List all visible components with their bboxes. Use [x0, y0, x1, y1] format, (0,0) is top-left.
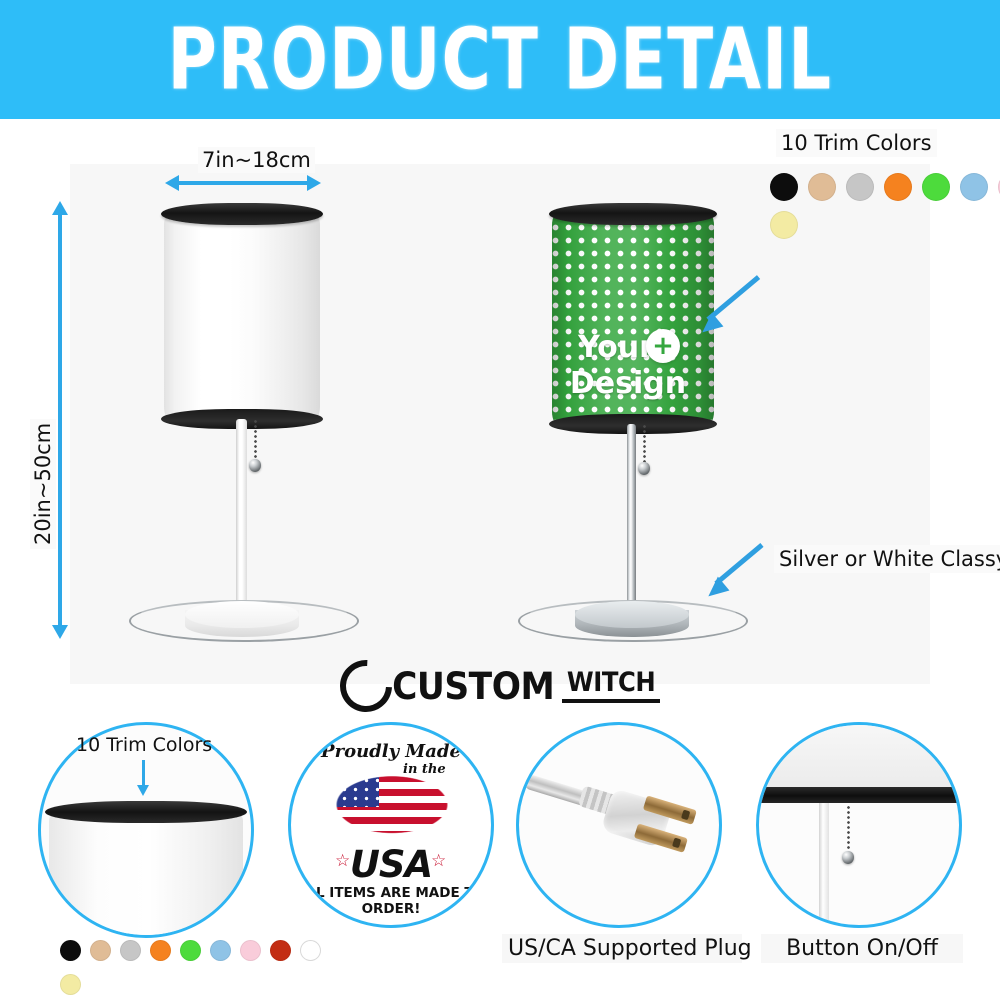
- lamp-shade-green: Your + Design: [552, 211, 714, 426]
- usa-star-right-icon: ☆: [431, 851, 446, 871]
- product-detail-page: PRODUCT DETAIL 7in~18cm 20in~50cm: [0, 0, 1000, 1000]
- pull-chain-ball: [638, 462, 650, 475]
- shade-surface: [164, 211, 320, 421]
- trim-swatch-light-blue[interactable]: [960, 173, 988, 201]
- trim-swatch-black[interactable]: [60, 940, 81, 961]
- trim-swatch-pink[interactable]: [240, 940, 261, 961]
- feature-circle-switch: [756, 722, 962, 928]
- height-measurement-arrow: [58, 214, 62, 626]
- feature-caption-plug: US/CA Supported Plug: [502, 934, 742, 963]
- brand-name-secondary-wrap: WITCH: [562, 667, 660, 703]
- feature-circle-plug: [516, 722, 722, 928]
- brand-name-secondary: WITCH: [567, 667, 655, 698]
- usa-badge-line-big: USA: [291, 843, 491, 886]
- plug-prong-hole: [672, 838, 681, 849]
- trim-color-swatch-row-top[interactable]: [770, 173, 1000, 201]
- brand-name-primary: CUSTOM: [392, 665, 554, 708]
- shade-trim-top: [549, 203, 717, 225]
- usa-flag-union: [317, 767, 379, 807]
- lamp-pole-silver: [627, 424, 636, 624]
- pull-chain-ball: [249, 459, 261, 472]
- trim-swatch-red[interactable]: [270, 940, 291, 961]
- feature-caption-switch: Button On/Off: [761, 934, 963, 963]
- feature-trim-colors-label: 10 Trim Colors: [76, 734, 212, 756]
- height-measurement-label: 20in~50cm: [30, 419, 56, 549]
- switch-shade-trim: [756, 787, 962, 803]
- trim-color-swatch-row-bottom[interactable]: [60, 940, 321, 961]
- brand-logo: CUSTOM WITCH: [0, 660, 1000, 712]
- feature-circle-made-in-usa: Proudly Made in the ☆ USA ☆ ALL ITEMS AR…: [288, 722, 494, 928]
- trim-swatch-light-blue[interactable]: [210, 940, 231, 961]
- shade-crop-trim: [45, 801, 247, 823]
- lamp-pole-white: [236, 419, 247, 624]
- trim-swatch-white[interactable]: [300, 940, 321, 961]
- trim-swatch-tan[interactable]: [90, 940, 111, 961]
- trim-color-swatch-row-top-2[interactable]: [770, 211, 798, 239]
- page-title: PRODUCT DETAIL: [168, 10, 833, 109]
- page-header-banner: PRODUCT DETAIL: [0, 0, 1000, 119]
- feature-panels: 10 Trim Colors Proudly Made in the ☆ USA…: [0, 712, 1000, 1000]
- switch-lamp-pole: [819, 803, 829, 925]
- main-product-stage: 7in~18cm 20in~50cm: [0, 119, 1000, 704]
- switch-pull-chain: [847, 805, 850, 853]
- feature-trim-colors-arrow: [142, 760, 145, 786]
- trim-swatch-orange[interactable]: [150, 940, 171, 961]
- trim-color-swatch-row-bottom-2[interactable]: [60, 974, 81, 995]
- trim-swatch-tan[interactable]: [808, 173, 836, 201]
- usa-badge-line-sub: ALL ITEMS ARE MADE TO ORDER!: [291, 885, 491, 917]
- shade-surface-printed: [552, 211, 714, 426]
- plug-prong-hole: [681, 810, 690, 821]
- lamp-base-white: [185, 601, 299, 645]
- trim-swatch-black[interactable]: [770, 173, 798, 201]
- trim-swatch-green[interactable]: [180, 940, 201, 961]
- width-measurement-label: 7in~18cm: [198, 147, 315, 173]
- shade-crop-white: [49, 811, 243, 938]
- trim-swatch-gray[interactable]: [120, 940, 141, 961]
- add-design-plus-icon[interactable]: +: [646, 329, 680, 363]
- trim-swatch-yellow[interactable]: [60, 974, 81, 995]
- pull-chain: [254, 419, 257, 461]
- switch-pull-chain-ball: [842, 851, 854, 864]
- base-top: [185, 601, 299, 628]
- usa-flag-stars: [317, 767, 379, 807]
- trim-swatch-green[interactable]: [922, 173, 950, 201]
- trim-swatch-gray[interactable]: [846, 173, 874, 201]
- lamp-base-silver: [575, 601, 689, 645]
- trim-swatch-orange[interactable]: [884, 173, 912, 201]
- lamp-shade-white: [164, 211, 320, 421]
- base-top: [575, 601, 689, 628]
- shade-trim-top: [161, 203, 323, 225]
- base-finish-callout-label: Silver or White Classy: [774, 545, 1000, 573]
- usa-badge-line-top: Proudly Made: [291, 741, 491, 762]
- brand-underline: [562, 699, 660, 703]
- trim-swatch-yellow[interactable]: [770, 211, 798, 239]
- width-measurement-arrow: [178, 181, 308, 185]
- usa-map-flag-icon: [313, 761, 471, 845]
- trim-colors-callout-label: 10 Trim Colors: [776, 129, 937, 157]
- pull-chain: [643, 424, 646, 464]
